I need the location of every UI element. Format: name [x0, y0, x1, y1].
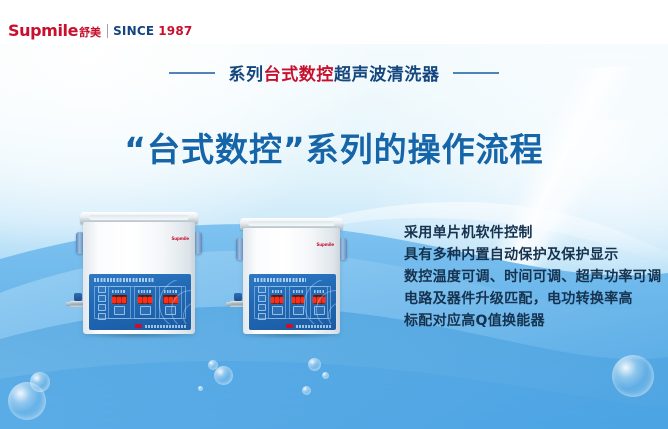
panel-module-temperature — [268, 286, 286, 319]
list-item: 标配对应高Q值换能器 — [404, 312, 661, 330]
product-brand-mark: Supmile — [171, 236, 189, 241]
led-display — [292, 295, 303, 304]
logo-wordmark-chinese: 舒美 — [79, 27, 101, 38]
module-caption — [272, 290, 282, 293]
list-item: 采用单片机软件控制 — [404, 224, 661, 242]
tank-handle-right — [194, 232, 202, 254]
panel-button-column[interactable] — [258, 286, 265, 320]
module-button[interactable] — [272, 306, 283, 315]
product-image-large: Supmile — [80, 212, 198, 334]
brand-logo: Supmile 舒美 SINCE 1987 — [8, 22, 192, 40]
led-digit — [148, 297, 152, 303]
led-digit — [275, 297, 278, 303]
control-panel — [89, 274, 191, 330]
panel-button-column[interactable] — [98, 286, 105, 320]
header-bar: Supmile 舒美 SINCE 1987 — [0, 0, 668, 44]
subtitle-rule-right — [453, 72, 499, 74]
product-brand-mark: Supmile — [316, 242, 334, 247]
panel-button[interactable] — [258, 295, 266, 302]
bubble-small-center — [208, 360, 218, 370]
control-panel — [249, 274, 336, 330]
bubble-tiny-mid — [302, 386, 311, 395]
tank-body: Supmile — [243, 228, 340, 334]
panel-button[interactable] — [258, 286, 266, 293]
panel-button[interactable] — [258, 304, 266, 311]
valve-nozzle — [66, 302, 71, 306]
bubble-small-upper — [322, 372, 329, 379]
product-image-small: Supmile — [240, 218, 343, 334]
led-digit — [271, 297, 274, 303]
led-display — [138, 295, 153, 304]
valve-lever — [234, 293, 242, 301]
list-item: 电路及器件升级匹配，电功转换率高 — [404, 290, 661, 308]
ultrasonic-wave-icon — [304, 280, 336, 324]
led-digit — [138, 297, 142, 303]
subtitle-highlight: 台式数控 — [264, 65, 334, 85]
slide-canvas: Supmile 舒美 SINCE 1987 系列台式数控超声波清洗器 “台式数控… — [0, 0, 668, 429]
page-title: “台式数控”系列的操作流程 — [0, 123, 668, 171]
list-item: 数控温度可调、时间可调、超声功率可调 — [404, 268, 661, 286]
led-display — [271, 295, 282, 304]
bubble-small-mid — [308, 358, 321, 371]
subtitle-text: 系列台式数控超声波清洗器 — [228, 60, 439, 85]
subtitle-rule-left — [169, 72, 215, 74]
ultrasonic-wave-icon — [159, 280, 191, 324]
valve-nozzle — [226, 302, 231, 306]
led-digit — [122, 297, 126, 303]
panel-button[interactable] — [98, 295, 106, 302]
led-digit — [296, 297, 299, 303]
logo-wordmark: Supmile — [8, 23, 78, 39]
list-item: 具有多种内置自动保护及保护显示 — [404, 246, 661, 264]
panel-button[interactable] — [258, 313, 266, 320]
led-digit — [117, 297, 121, 303]
led-digit — [112, 297, 116, 303]
module-button[interactable] — [140, 306, 151, 315]
led-digit — [280, 297, 283, 303]
subtitle-row: 系列台式数控超声波清洗器 — [0, 60, 668, 85]
module-button[interactable] — [293, 306, 304, 315]
logo-since-label: SINCE — [113, 25, 154, 37]
panel-footer-brand — [145, 325, 186, 328]
panel-button[interactable] — [98, 313, 106, 320]
logo-divider — [107, 24, 108, 38]
panel-button[interactable] — [98, 286, 106, 293]
led-digit — [143, 297, 147, 303]
module-caption — [138, 290, 152, 293]
valve-lever — [74, 293, 82, 301]
bubble-medium-left — [30, 372, 50, 392]
tank-handle-right — [339, 238, 347, 260]
bubble-large-right — [612, 355, 654, 397]
bubble-medium-center — [214, 366, 233, 385]
panel-model-label — [94, 278, 155, 282]
panel-module-temperature — [108, 286, 131, 319]
led-display — [112, 295, 127, 304]
module-caption — [293, 290, 303, 293]
panel-button[interactable] — [98, 304, 106, 311]
panel-footer-brand — [296, 325, 331, 328]
module-caption — [112, 290, 126, 293]
subtitle-prefix: 系列 — [228, 65, 263, 85]
bubble-tiny-center — [198, 386, 203, 391]
tank-body: Supmile — [83, 222, 195, 334]
led-digit — [292, 297, 295, 303]
panel-module-timer — [134, 286, 157, 319]
panel-model-label — [254, 278, 306, 282]
feature-list: 采用单片机软件控制 具有多种内置自动保护及保护显示 数控温度可调、时间可调、超声… — [404, 224, 661, 330]
logo-founding-year: 1987 — [158, 25, 192, 37]
subtitle-suffix: 超声波清洗器 — [334, 65, 440, 85]
module-button[interactable] — [114, 306, 125, 315]
